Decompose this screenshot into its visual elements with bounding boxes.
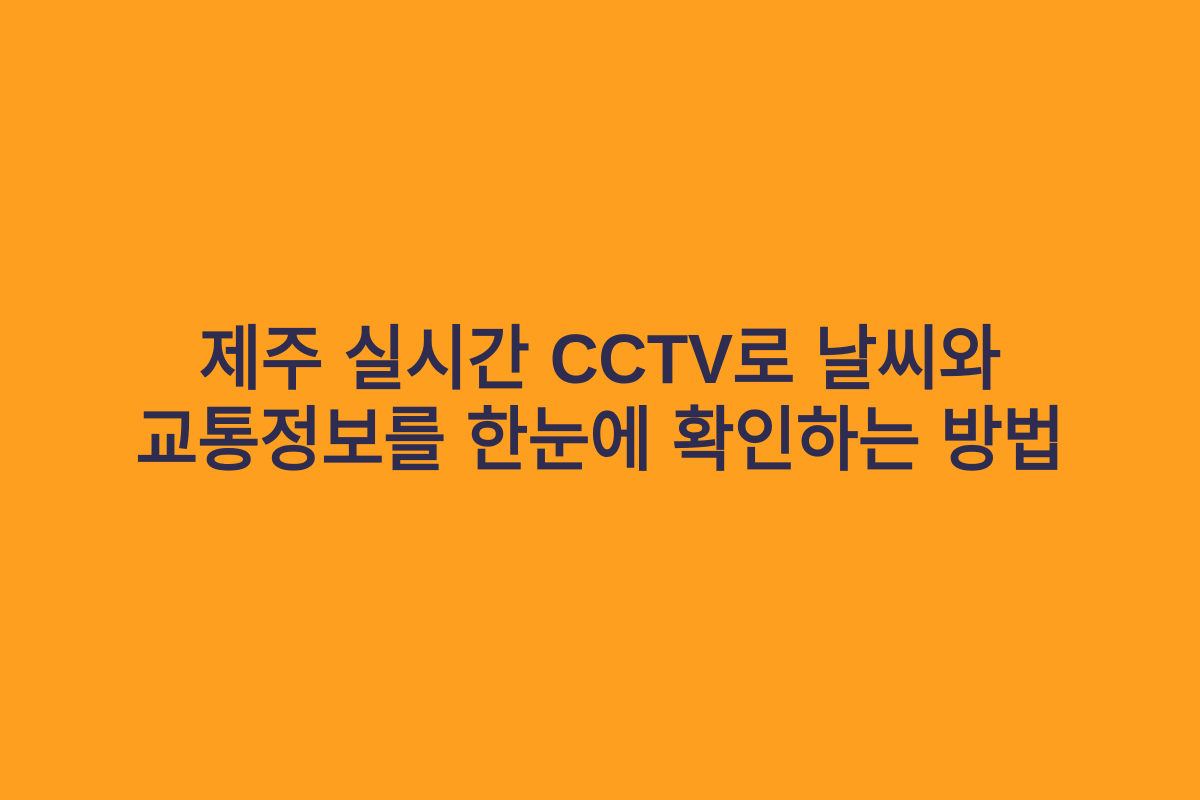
headline-line-2: 교통정보를 한눈에 확인하는 방법: [37, 400, 1162, 481]
headline: 제주 실시간 CCTV로 날씨와 교통정보를 한눈에 확인하는 방법: [37, 319, 1162, 481]
banner-card: 제주 실시간 CCTV로 날씨와 교통정보를 한눈에 확인하는 방법: [0, 0, 1200, 800]
headline-line-1: 제주 실시간 CCTV로 날씨와: [37, 319, 1162, 400]
